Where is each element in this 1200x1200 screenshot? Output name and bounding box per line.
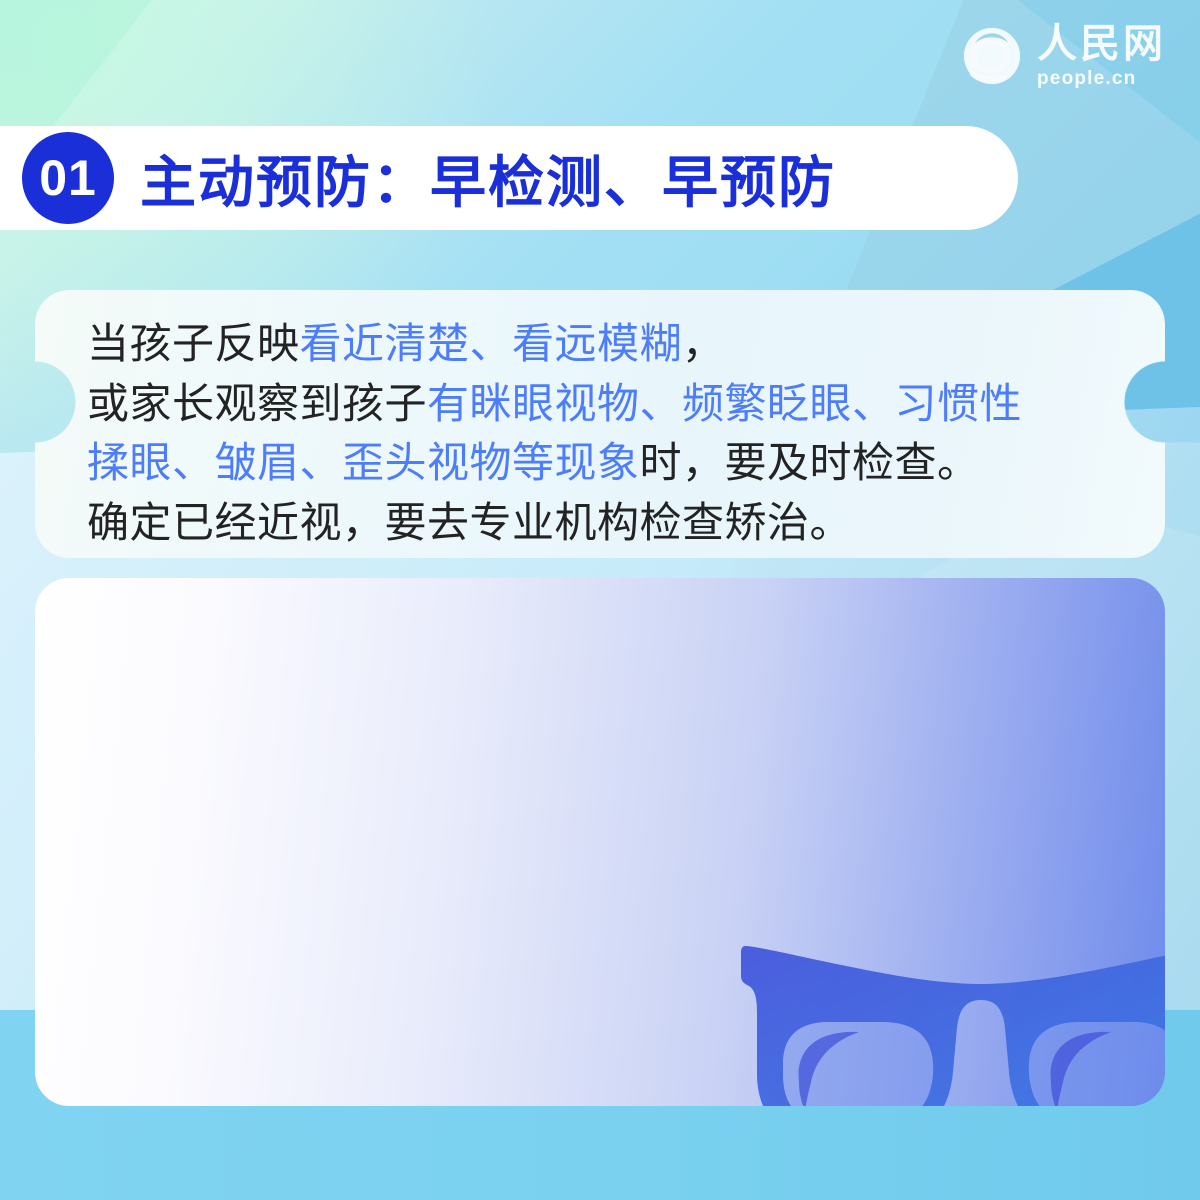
advice-card: 近视度数75度以上， 裸眼视力低于4.9，建议配戴眼镜。 近视度数75度以下， … (35, 578, 1165, 1106)
logo-wordmark: 人民网 people.cn (1037, 24, 1166, 88)
info-line2-plain: 或家长观察到孩子 (87, 379, 427, 428)
eyeglasses-icon (733, 924, 1165, 1106)
section-title: 主动预防：早检测、早预防 (140, 138, 836, 219)
people-cn-globe-icon (961, 25, 1023, 87)
info-paragraph: 当孩子反映看近清楚、看远模糊， 或家长观察到孩子有眯眼视物、频繁眨眼、习惯性 揉… (87, 314, 1129, 553)
logo-name-cn: 人民网 (1037, 24, 1166, 64)
site-logo: 人民网 people.cn (961, 24, 1166, 88)
info-line1-plain-a: 当孩子反映 (87, 319, 300, 368)
info-line4-plain: 确定已经近视，要去专业机构检查矫治。 (87, 498, 852, 547)
info-line3-highlight: 揉眼、皱眉、歪头视物等现象 (87, 438, 640, 487)
info-line2-highlight: 有眯眼视物、频繁眨眼、习惯性 (427, 379, 1022, 428)
info-line1-plain-b: ， (682, 319, 725, 368)
logo-name-en: people.cn (1037, 69, 1136, 88)
info-card: 当孩子反映看近清楚、看远模糊， 或家长观察到孩子有眯眼视物、频繁眨眼、习惯性 揉… (35, 290, 1165, 558)
section-number-badge: 01 (22, 132, 114, 224)
info-line3-plain: 时，要及时检查。 (640, 438, 980, 487)
info-line1-highlight: 看近清楚、看远模糊 (300, 319, 683, 368)
section-header-bar: 01 主动预防：早检测、早预防 (0, 126, 1018, 230)
section-number-text: 01 (39, 149, 97, 207)
